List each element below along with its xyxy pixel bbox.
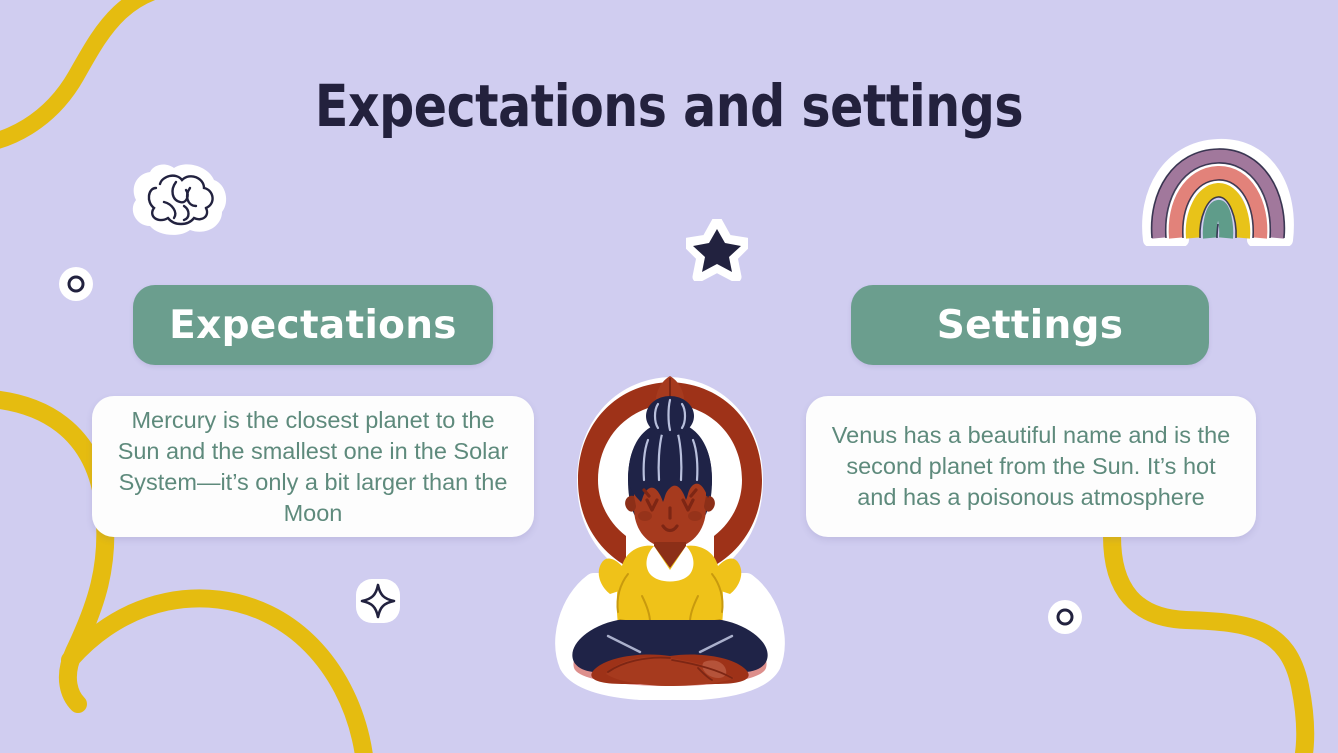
cloud-doodle-sticker — [128, 158, 232, 240]
cheek-left — [638, 511, 652, 521]
column-heading-expectations-label: Expectations — [169, 303, 457, 348]
column-card-expectations: Mercury is the closest planet to the Sun… — [92, 396, 534, 537]
circle-dot-sticker-right — [1046, 598, 1084, 636]
meditating-person-sticker — [548, 368, 792, 700]
circle-dot-sticker-left — [57, 265, 95, 303]
cheek-right — [688, 511, 702, 521]
column-card-settings: Venus has a beautiful name and is the se… — [806, 396, 1256, 537]
page-title: Expectations and settings — [40, 74, 1298, 138]
rainbow-sticker — [1142, 134, 1294, 246]
column-heading-settings: Settings — [851, 285, 1209, 365]
slide-canvas: Expectations and settings — [0, 0, 1338, 753]
column-body-settings: Venus has a beautiful name and is the se… — [828, 420, 1234, 513]
swirl-bottom-right-path — [1112, 536, 1305, 753]
column-heading-settings-label: Settings — [937, 303, 1124, 348]
sparkle-sticker — [352, 575, 404, 627]
column-body-expectations: Mercury is the closest planet to the Sun… — [114, 405, 512, 529]
swirl-bottom-left-path — [0, 398, 105, 704]
star-sticker — [686, 219, 748, 281]
column-heading-expectations: Expectations — [133, 285, 493, 365]
swirl-bottom-left-path-2 — [70, 598, 366, 753]
